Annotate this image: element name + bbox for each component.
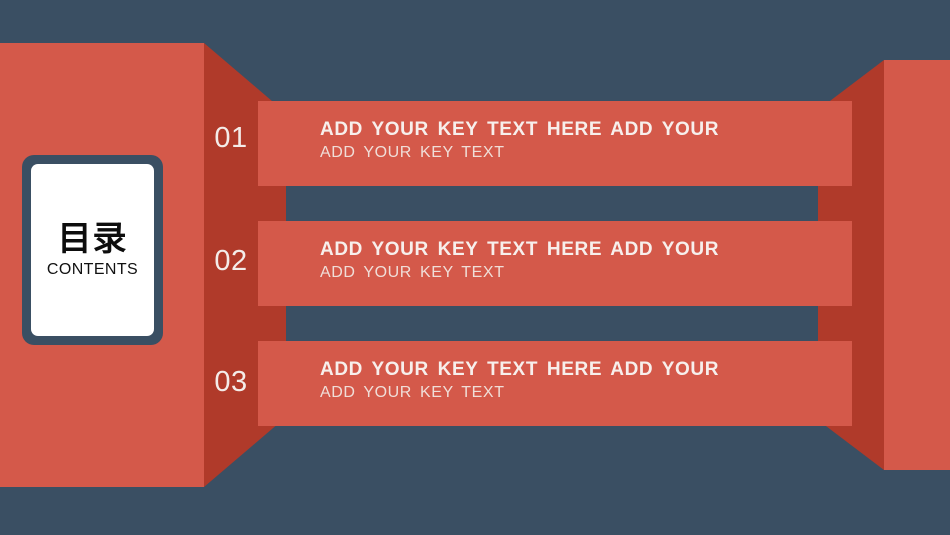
contents-card: 目录 CONTENTS: [22, 155, 163, 345]
right-coral-panel: [884, 60, 950, 470]
row-box-02[interactable]: ADD YOUR KEY TEXT HERE ADD YOUR ADD YOUR…: [258, 221, 852, 306]
row-text-01: ADD YOUR KEY TEXT HERE ADD YOUR ADD YOUR…: [320, 119, 719, 162]
contents-slide: 目录 CONTENTS 01 ADD YOUR KEY TEXT HERE AD…: [0, 0, 950, 535]
row-text-02: ADD YOUR KEY TEXT HERE ADD YOUR ADD YOUR…: [320, 239, 719, 282]
row-text-03: ADD YOUR KEY TEXT HERE ADD YOUR ADD YOUR…: [320, 359, 719, 402]
row-number-02: 02: [205, 245, 257, 278]
row-subtitle-03: ADD YOUR KEY TEXT: [320, 384, 719, 402]
contents-card-inner: 目录 CONTENTS: [31, 164, 154, 336]
contents-heading-en: CONTENTS: [47, 261, 138, 279]
row-number-01: 01: [205, 122, 257, 155]
row-title-03: ADD YOUR KEY TEXT HERE ADD YOUR: [320, 359, 719, 381]
row-title-02: ADD YOUR KEY TEXT HERE ADD YOUR: [320, 239, 719, 261]
row-subtitle-01: ADD YOUR KEY TEXT: [320, 144, 719, 162]
row-number-03: 03: [205, 366, 257, 399]
row-subtitle-02: ADD YOUR KEY TEXT: [320, 264, 719, 282]
row-title-01: ADD YOUR KEY TEXT HERE ADD YOUR: [320, 119, 719, 141]
contents-heading-cn: 目录: [58, 221, 128, 258]
row-box-03[interactable]: ADD YOUR KEY TEXT HERE ADD YOUR ADD YOUR…: [258, 341, 852, 426]
row-box-01[interactable]: ADD YOUR KEY TEXT HERE ADD YOUR ADD YOUR…: [258, 101, 852, 186]
